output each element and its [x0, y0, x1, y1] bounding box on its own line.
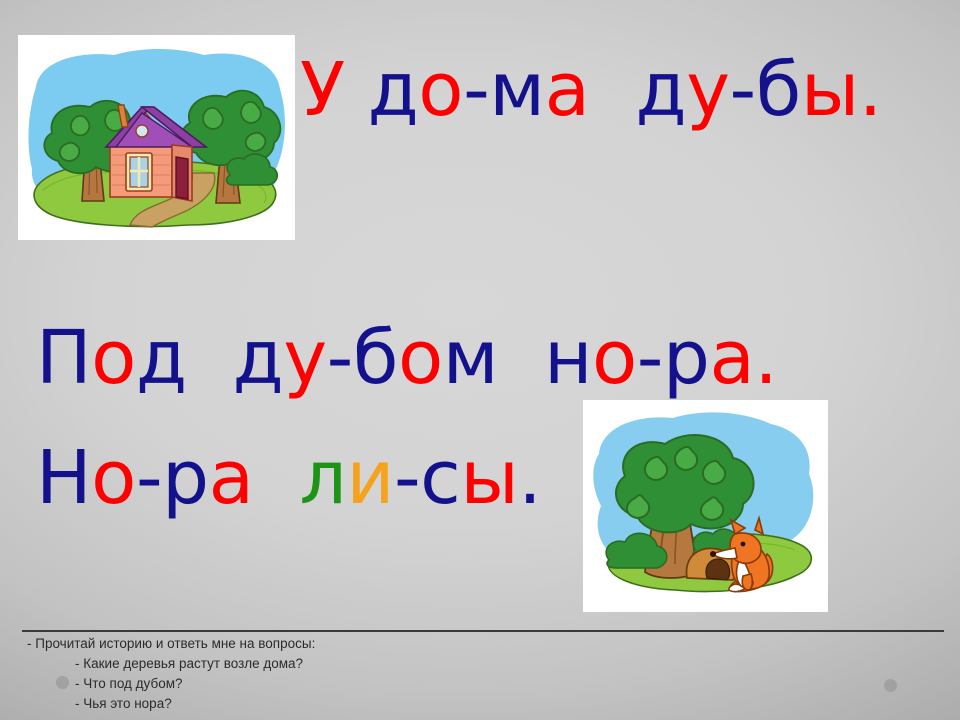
syllable-char: д	[368, 47, 419, 133]
syllable-char: л	[300, 435, 347, 521]
syllable-char: У	[300, 47, 345, 133]
house-with-oak-trees-illustration	[18, 35, 295, 240]
syllable-char: а	[545, 47, 590, 133]
sentence-line-1: У до-ма ду-бы.	[300, 52, 882, 130]
syllable-char: -	[394, 435, 420, 521]
syllable-char: д	[233, 315, 284, 401]
syllable-char: м	[443, 315, 498, 401]
syllable-char	[498, 315, 544, 401]
instructions-block: - Прочитай историю и ответь мне на вопро…	[27, 634, 647, 714]
syllable-char: д	[136, 315, 187, 401]
syllable-char: м	[489, 47, 544, 133]
syllable-char: и	[346, 435, 394, 521]
syllable-char: .	[859, 47, 882, 133]
syllable-char: -	[729, 47, 755, 133]
syllable-char: р	[162, 435, 208, 521]
syllable-char: о	[592, 315, 637, 401]
syllable-char: б	[353, 315, 398, 401]
instruction-question-3: - Чья это нора?	[27, 694, 647, 714]
sentence-line-3: Но-ра ли-сы.	[36, 440, 541, 518]
instruction-question-1: - Какие деревья растут возле дома?	[27, 654, 647, 674]
syllable-char	[187, 315, 233, 401]
syllable-char: а	[709, 315, 754, 401]
syllable-char: р	[663, 315, 709, 401]
syllable-char: н	[544, 315, 592, 401]
syllable-char: -	[136, 435, 162, 521]
sentence-line-2: Под ду-бом но-ра.	[36, 320, 777, 398]
syllable-char: у	[686, 47, 729, 133]
decorative-dot-right	[884, 679, 897, 692]
syllable-char: о	[418, 47, 463, 133]
instruction-prompt: - Прочитай историю и ответь мне на вопро…	[27, 634, 647, 654]
syllable-char: ы	[460, 435, 518, 521]
syllable-char: .	[754, 315, 777, 401]
syllable-char: у	[283, 315, 326, 401]
decorative-dot-left	[56, 676, 69, 689]
syllable-char: П	[36, 315, 91, 401]
syllable-char: -	[637, 315, 663, 401]
syllable-char: -	[463, 47, 489, 133]
syllable-char: б	[756, 47, 801, 133]
syllable-char: .	[518, 435, 541, 521]
syllable-char: о	[91, 315, 136, 401]
syllable-char	[589, 47, 635, 133]
syllable-char: -	[327, 315, 353, 401]
slide-canvas: У до-ма ду-бы. Под ду-бом но-ра. Но-ра л…	[0, 0, 960, 720]
syllable-char: ы	[801, 47, 859, 133]
syllable-char: с	[420, 435, 460, 521]
oak-tree-with-fox-and-burrow-illustration	[583, 400, 828, 612]
syllable-char	[345, 47, 368, 133]
syllable-char: о	[91, 435, 136, 521]
syllable-char	[253, 435, 299, 521]
instruction-question-2: - Что под дубом?	[27, 674, 647, 694]
syllable-char: Н	[36, 435, 91, 521]
syllable-char: а	[209, 435, 254, 521]
footer-divider	[22, 630, 944, 632]
syllable-char: д	[636, 47, 687, 133]
syllable-char: о	[398, 315, 443, 401]
